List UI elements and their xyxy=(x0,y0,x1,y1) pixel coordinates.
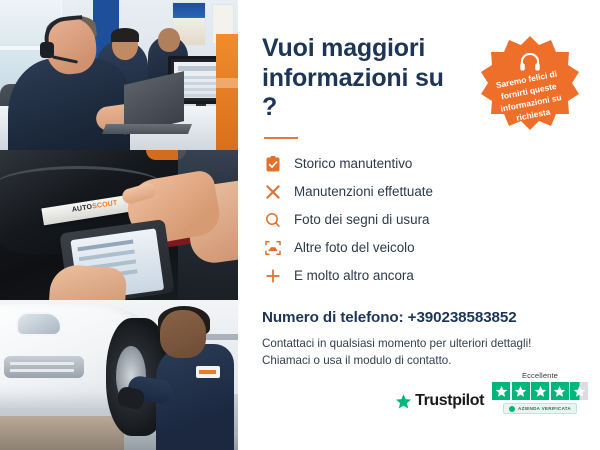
phone-label: Numero di telefono: xyxy=(262,309,404,326)
clipboard-check-icon xyxy=(262,154,284,174)
coworker-hair xyxy=(111,28,139,42)
car-bumper-grille xyxy=(4,356,84,378)
call-center-operators-photo xyxy=(0,0,238,150)
mechanic-head xyxy=(160,310,206,358)
contact-note: Contattaci in qualsiasi momento per ulte… xyxy=(262,335,578,371)
strip-brand-mark: AUTOSCOUT xyxy=(71,200,118,214)
feature-label: E molto altro ancora xyxy=(294,268,414,283)
feature-item-wear-photos[interactable]: Foto dei segni di usura xyxy=(262,207,578,233)
vehicle-lift-ramp xyxy=(0,416,124,450)
trustpilot-rating: Eccellente xyxy=(492,371,588,414)
trustpilot-logo: Trustpilot xyxy=(395,392,484,414)
feature-label: Altre foto del veicolo xyxy=(294,240,415,255)
star-1 xyxy=(492,382,510,400)
contact-note-line-2: Chiamaci o usa il modulo di contatto. xyxy=(262,352,578,370)
feature-label: Foto dei segni di usura xyxy=(294,212,429,227)
scan-car-icon xyxy=(262,238,284,258)
phone-number-line[interactable]: Numero di telefono: +390238583852 xyxy=(262,309,578,326)
verified-check-icon xyxy=(509,406,515,412)
magnifier-icon xyxy=(262,210,284,230)
feature-item-more[interactable]: E molto altro ancora xyxy=(262,263,578,289)
star-3 xyxy=(531,382,549,400)
contact-note-line-1: Contattaci in qualsiasi momento per ulte… xyxy=(262,335,578,353)
star-5 xyxy=(570,382,588,400)
feature-item-maintenance-done[interactable]: Manutenzioni effettuate xyxy=(262,179,578,205)
mechanic-uniform-patch xyxy=(196,366,220,378)
verified-label: AZIENDA VERIFICATA xyxy=(518,406,571,411)
trustpilot-widget[interactable]: Trustpilot Eccellente xyxy=(395,371,588,414)
request-info-badge: Saremo felici di fornirti queste informa… xyxy=(476,34,584,142)
headset-icon xyxy=(519,53,541,71)
phone-number[interactable]: +390238583852 xyxy=(408,309,517,326)
title-divider xyxy=(264,137,298,139)
tools-cross-icon xyxy=(262,182,284,202)
info-panel: Vuoi maggiori informazioni su ? Saremo f… xyxy=(238,0,600,450)
trustpilot-star-icon xyxy=(395,393,412,410)
laptop-keyboard xyxy=(102,124,192,134)
orange-divider-panel xyxy=(216,34,238,150)
feature-list: Storico manutentivo Manutenzioni effettu… xyxy=(262,151,578,289)
page-title: Vuoi maggiori informazioni su ? xyxy=(262,34,462,123)
trustpilot-rating-label: Eccellente xyxy=(522,371,558,380)
promo-banner: AUTOSCOUT xyxy=(0,0,600,450)
inspector-hand-lower xyxy=(49,263,128,300)
page-title-line-1: Vuoi maggiori xyxy=(262,34,462,64)
feature-item-vehicle-photos[interactable]: Altre foto del veicolo xyxy=(262,235,578,261)
verified-business-badge: AZIENDA VERIFICATA xyxy=(503,403,577,414)
mechanic-wheel-check-photo xyxy=(0,300,238,450)
feature-item-maintenance-history[interactable]: Storico manutentivo xyxy=(262,151,578,177)
plus-icon xyxy=(262,266,284,286)
car-inspection-measure-photo: AUTOSCOUT xyxy=(0,150,238,300)
car-headlight xyxy=(16,312,62,336)
trustpilot-wordmark: Trustpilot xyxy=(415,392,484,410)
page-title-line-2: informazioni su ? xyxy=(262,64,462,123)
feature-label: Manutenzioni effettuate xyxy=(294,184,433,199)
feature-label: Storico manutentivo xyxy=(294,156,412,171)
trustpilot-stars xyxy=(492,382,588,400)
star-4 xyxy=(551,382,569,400)
star-2 xyxy=(512,382,530,400)
photo-column: AUTOSCOUT xyxy=(0,0,238,450)
coworker-background-head xyxy=(158,28,180,52)
